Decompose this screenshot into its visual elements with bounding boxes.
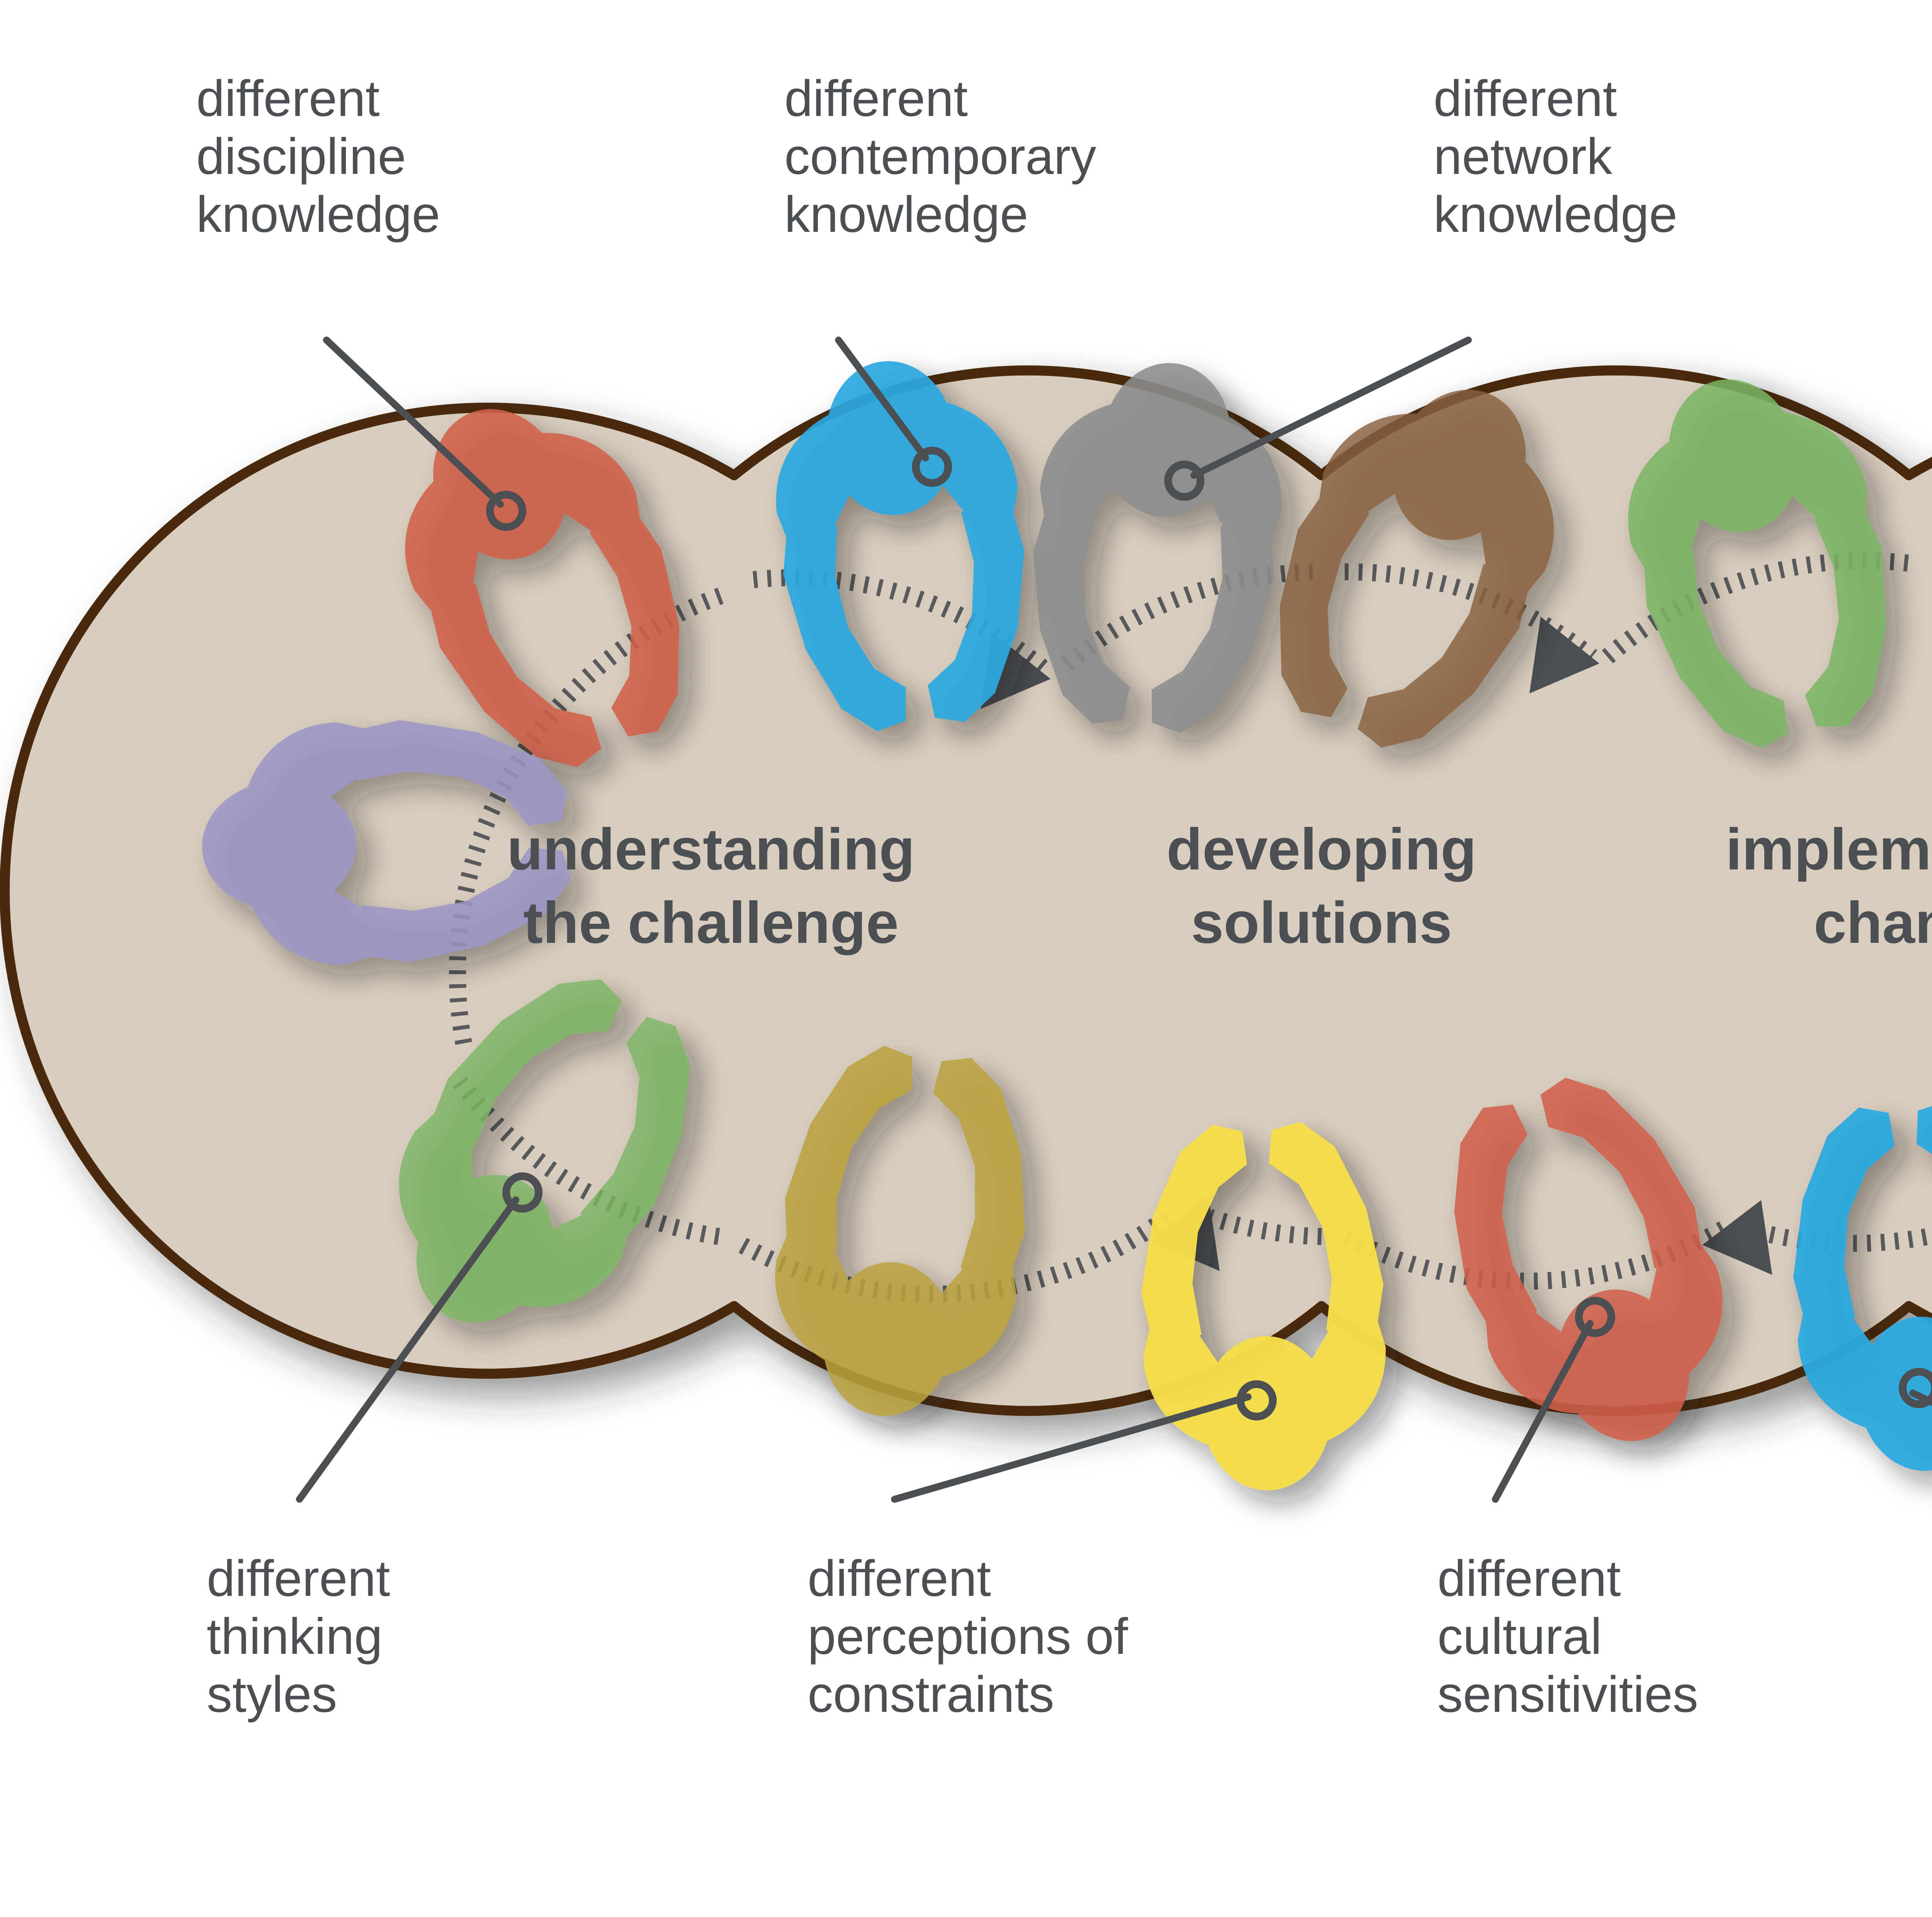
- callout-network-line2: network: [1434, 128, 1612, 185]
- callout-discipline-line2: discipline: [196, 128, 406, 185]
- phase-developing-line2: solutions: [1191, 890, 1452, 956]
- callout-cultural-line2: cultural: [1437, 1608, 1602, 1665]
- callout-perceptions-line1: different: [808, 1550, 991, 1607]
- callout-network-line1: different: [1434, 70, 1617, 127]
- phase-developing-line1: developing: [1167, 816, 1476, 882]
- callout-perceptions-line3: constraints: [808, 1666, 1054, 1723]
- phase-understanding-line2: the challenge: [523, 890, 898, 956]
- phase-implementing-line1: implementing: [1726, 816, 1932, 882]
- callout-network-line3: knowledge: [1434, 186, 1677, 243]
- callout-perceptions-line2: perceptions of: [808, 1608, 1128, 1665]
- callout-thinking-line2: thinking: [207, 1608, 383, 1665]
- phase-implementing-line2: change: [1814, 890, 1932, 956]
- callout-cultural-sensitivities: different cultural sensitivities: [1437, 1550, 1698, 1723]
- callout-contemporary-line2: contemporary: [784, 128, 1096, 185]
- callout-discipline-line1: different: [196, 70, 380, 127]
- callout-thinking-styles: different thinking styles: [207, 1550, 390, 1723]
- callout-contemporary-knowledge: different contemporary knowledge: [784, 70, 1096, 243]
- callout-contemporary-line1: different: [784, 70, 968, 127]
- diagram-svg: understanding the challenge developing s…: [0, 0, 1932, 1917]
- diagram-canvas: understanding the challenge developing s…: [0, 0, 1932, 1917]
- phase-understanding-line1: understanding: [507, 816, 915, 882]
- callout-cultural-line1: different: [1437, 1550, 1621, 1607]
- callout-network-knowledge: different network knowledge: [1434, 70, 1677, 243]
- callout-discipline-line3: knowledge: [196, 186, 440, 243]
- callout-cultural-line3: sensitivities: [1437, 1666, 1698, 1723]
- callout-thinking-line1: different: [207, 1550, 390, 1607]
- callout-perceptions-constraints: different perceptions of constraints: [808, 1550, 1128, 1723]
- callout-thinking-line3: styles: [207, 1666, 337, 1723]
- callout-contemporary-line3: knowledge: [784, 186, 1028, 243]
- callout-discipline-knowledge: different discipline knowledge: [196, 70, 440, 243]
